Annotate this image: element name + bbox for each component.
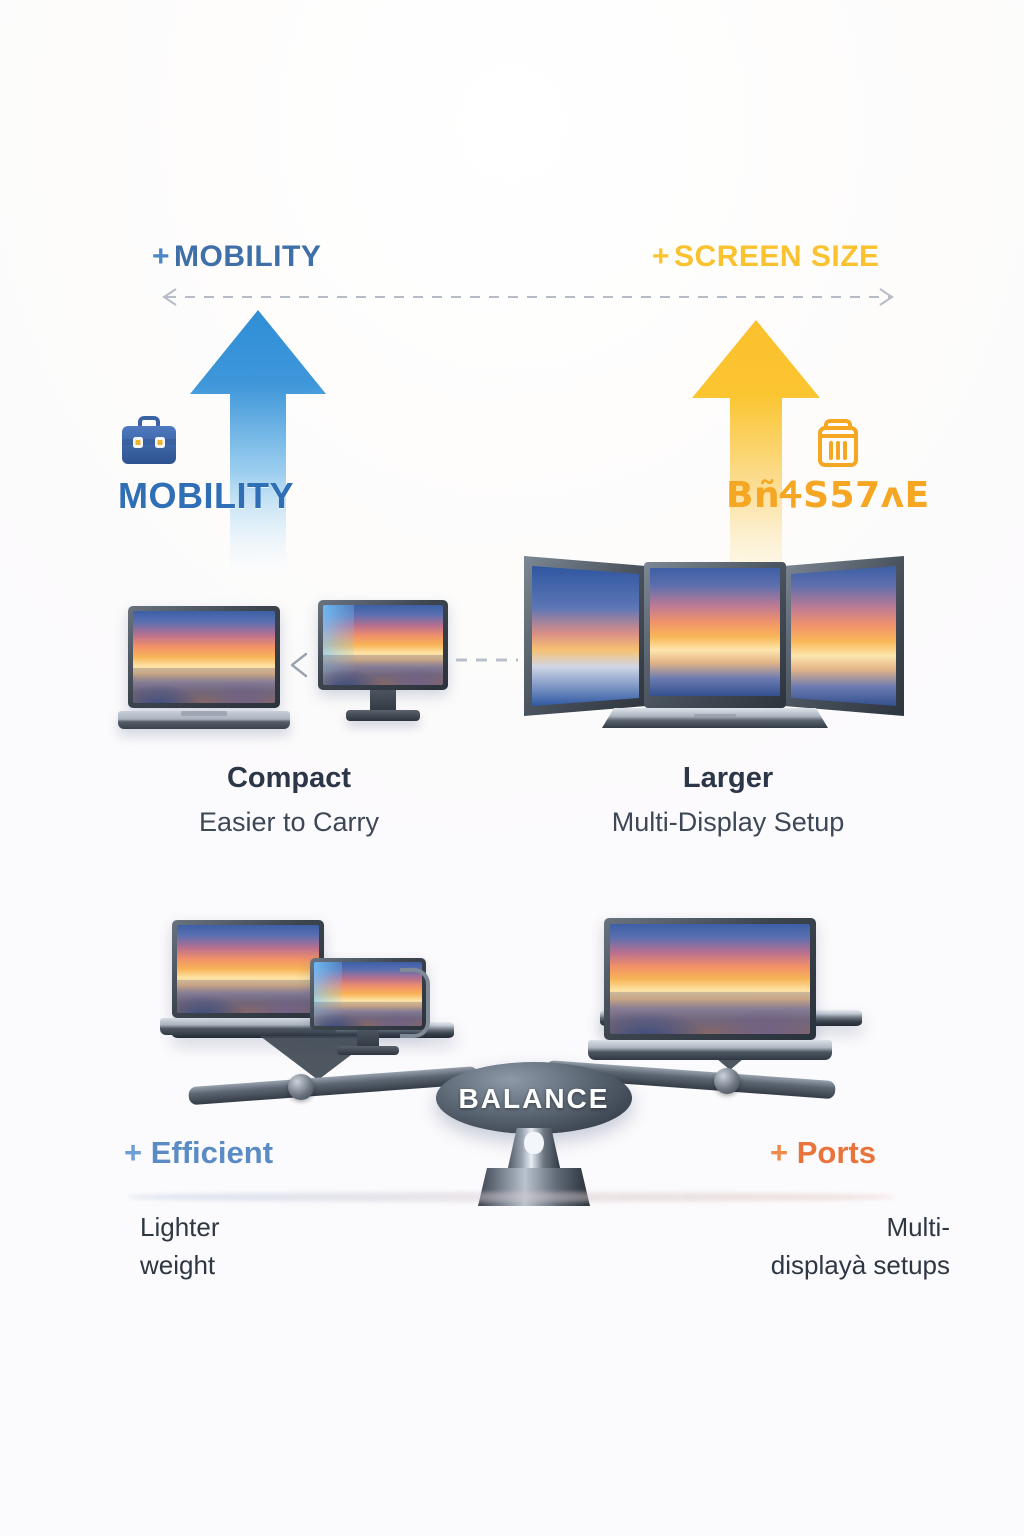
larger-subtitle: Multi-Display Setup: [560, 807, 896, 838]
ports-desc-line1: Multi-: [620, 1208, 950, 1246]
scale-pivot-left: [288, 1074, 314, 1100]
ports-desc-line2: displayà setups: [620, 1246, 950, 1284]
laptop-screen-wallpaper: [177, 925, 319, 1013]
floor-shadow: [128, 1192, 896, 1202]
compact-title: Compact: [130, 762, 448, 795]
scale-column-gap: [524, 1132, 544, 1154]
briefcase-icon: [118, 415, 180, 469]
larger-caption: Larger Multi-Display Setup: [560, 762, 896, 838]
dashed-connector: [456, 658, 518, 662]
axis-right-plus: +: [652, 240, 670, 273]
compact-subtitle: Easier to Carry: [130, 807, 448, 838]
monitor-right: [784, 556, 904, 716]
laptop-lid: [128, 606, 280, 708]
monitor-neck: [370, 690, 396, 710]
compact-external-monitor-illustration: [318, 600, 448, 721]
multi-display-illustration: [518, 548, 910, 734]
compact-laptop-illustration: [128, 606, 280, 729]
axis-label-left: +MOBILITY: [152, 240, 321, 274]
trash-bin-icon: [812, 415, 864, 471]
efficient-desc-line1: Lighter: [140, 1208, 400, 1246]
monitor-bezel: [318, 600, 448, 690]
efficient-desc-line2: weight: [140, 1246, 400, 1284]
laptop-lid: [172, 920, 324, 1018]
laptop-base: [118, 711, 290, 729]
monitor-neck: [357, 1030, 379, 1046]
scale-right-laptop: [604, 918, 816, 1060]
efficient-plus: +: [124, 1135, 142, 1170]
laptop-screen-wallpaper: [133, 611, 275, 703]
scale-left-laptop: [172, 920, 324, 1035]
monitor-cable: [400, 968, 430, 1038]
scale-pivot-right: [714, 1068, 740, 1094]
axis-dashed-line: [150, 286, 906, 308]
monitor-left: [524, 556, 646, 716]
mobility-label: MOBILITY: [118, 475, 348, 517]
laptop-trackpad: [181, 711, 227, 716]
efficient-description: Lighter weight: [140, 1208, 400, 1285]
screensize-pillar: BñᏎS57ᴧE: [726, 415, 946, 517]
arrow-left-icon: [286, 650, 314, 680]
axis-label-right: +SCREEN SIZE: [652, 240, 880, 274]
laptop-base: [588, 1040, 832, 1060]
axis-left-plus: +: [152, 240, 170, 273]
axis-left-text: MOBILITY: [174, 240, 321, 273]
laptop-lid: [604, 918, 816, 1040]
screen-glare: [323, 605, 354, 685]
efficient-label: + Efficient: [124, 1135, 273, 1171]
ports-description: Multi- displayà setups: [620, 1208, 950, 1285]
infographic-canvas: +MOBILITY +SCREEN SIZE: [0, 0, 1024, 1536]
screen-glare: [314, 962, 342, 1026]
monitor-screen-wallpaper: [323, 605, 443, 685]
mobility-pillar: MOBILITY: [118, 415, 348, 517]
larger-title: Larger: [560, 762, 896, 795]
balance-label: BALANCE: [436, 1083, 632, 1115]
ports-label: + Ports: [770, 1135, 876, 1171]
ports-text: Ports: [797, 1135, 876, 1170]
axis-right-text: SCREEN SIZE: [674, 240, 880, 273]
efficient-text: Efficient: [151, 1135, 273, 1170]
compact-caption: Compact Easier to Carry: [130, 762, 448, 838]
laptop-screen-wallpaper: [610, 924, 810, 1034]
monitor-foot: [346, 710, 420, 721]
monitor-foot: [337, 1046, 399, 1055]
ports-plus: +: [770, 1135, 788, 1170]
screensize-label: BñᏎS57ᴧE: [726, 475, 946, 517]
